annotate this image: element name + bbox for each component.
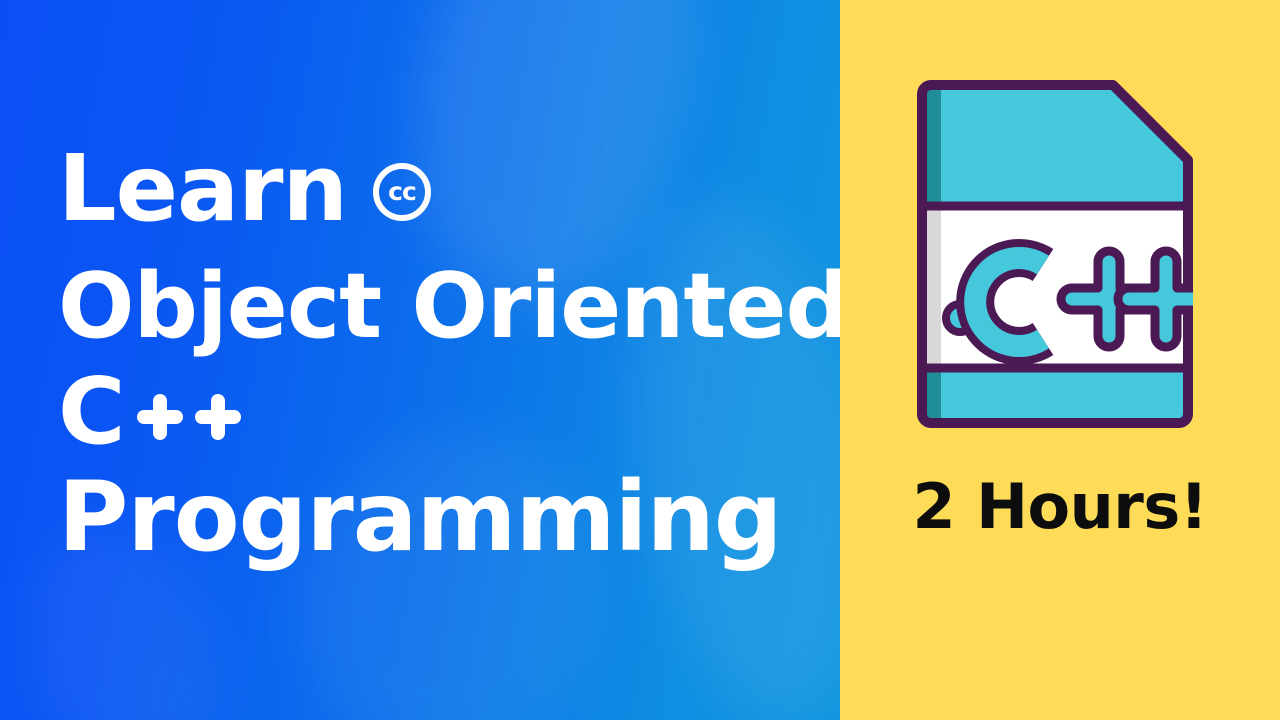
closed-captions-label: cc (388, 179, 416, 204)
right-yellow-panel: 2 Hours! (840, 0, 1280, 720)
cpp-letter-c: C (58, 366, 125, 458)
closed-captions-icon: cc (373, 163, 431, 221)
cpp-wordmark: C (58, 366, 241, 458)
headline-line-programming: Programming (58, 458, 818, 576)
headline-text-object-oriented: Object Oriented (58, 248, 840, 366)
plus-icon-1 (137, 394, 183, 440)
cpp-file-icon (917, 80, 1193, 428)
title-card-slide: Learn cc Object Oriented C Programming (0, 0, 1280, 720)
headline-text-programming: Programming (58, 458, 782, 576)
headline-line-learn: Learn cc (58, 130, 818, 248)
left-blue-panel: Learn cc Object Oriented C Programming (0, 0, 840, 720)
headline-line-object-oriented: Object Oriented (58, 248, 818, 366)
headline-line-cpp: C (58, 366, 818, 458)
headline-block: Learn cc Object Oriented C Programming (58, 130, 818, 576)
duration-label: 2 Hours! (840, 472, 1280, 542)
plus-icon-2 (195, 394, 241, 440)
headline-text-learn: Learn (58, 130, 347, 248)
